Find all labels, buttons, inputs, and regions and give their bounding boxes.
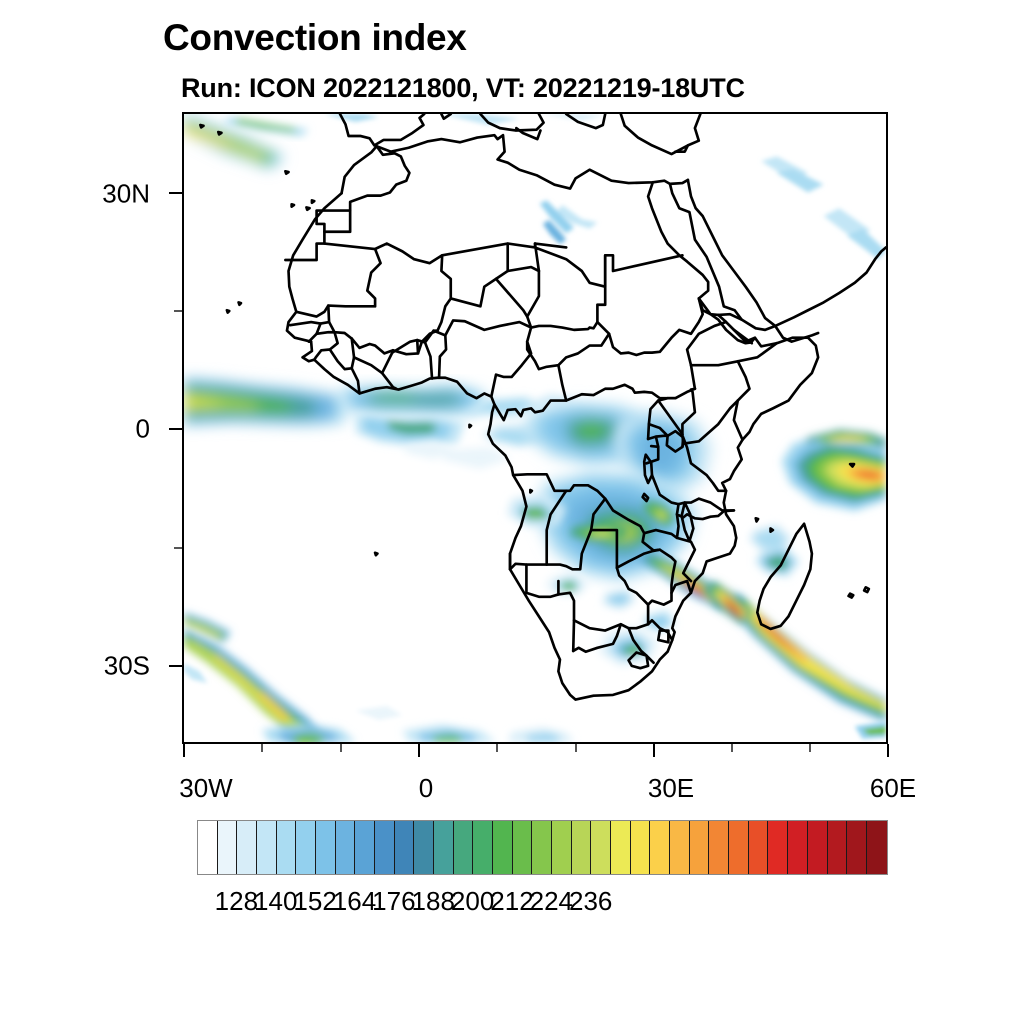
x-tick-20E [575, 744, 577, 752]
colorbar-cell[interactable] [454, 821, 474, 874]
colorbar[interactable] [197, 820, 888, 875]
colorbar-cell[interactable] [336, 821, 356, 874]
colorbar-cell[interactable] [611, 821, 631, 874]
y-tick-15N [174, 310, 182, 312]
colorbar-cell[interactable] [788, 821, 808, 874]
colorbar-cell[interactable] [532, 821, 552, 874]
colorbar-tick-label: 128 [215, 886, 258, 917]
colorbar-cell[interactable] [670, 821, 690, 874]
y-tick-15S [174, 547, 182, 549]
colorbar-tick-label: 152 [293, 886, 336, 917]
x-axis-label-30W: 30W [179, 773, 232, 804]
x-tick-20W [261, 744, 263, 752]
page-title: Convection index [163, 17, 467, 59]
colorbar-tick-label: 140 [254, 886, 297, 917]
colorbar-cell[interactable] [729, 821, 749, 874]
y-tick-30S [169, 665, 182, 667]
colorbar-cell[interactable] [768, 821, 788, 874]
y-tick-0 [169, 428, 182, 430]
colorbar-tick-label: 236 [569, 886, 612, 917]
x-tick-30E [653, 744, 655, 757]
colorbar-cell[interactable] [709, 821, 729, 874]
colorbar-cell[interactable] [296, 821, 316, 874]
colorbar-cell[interactable] [808, 821, 828, 874]
colorbar-cell[interactable] [749, 821, 769, 874]
x-tick-30W [183, 744, 185, 757]
colorbar-cell[interactable] [591, 821, 611, 874]
colorbar-tick-label: 224 [530, 886, 573, 917]
page-subtitle: Run: ICON 2022121800, VT: 20221219-18UTC [181, 73, 745, 104]
colorbar-cell[interactable] [572, 821, 592, 874]
colorbar-cell[interactable] [414, 821, 434, 874]
x-tick-10E [496, 744, 498, 752]
colorbar-cell[interactable] [847, 821, 867, 874]
colorbar-cell[interactable] [395, 821, 415, 874]
colorbar-tick-label: 164 [333, 886, 376, 917]
colorbar-tick-label: 200 [451, 886, 494, 917]
colorbar-cell[interactable] [828, 821, 848, 874]
colorbar-cell[interactable] [473, 821, 493, 874]
y-axis-label-0: 0 [40, 414, 150, 445]
colorbar-cell[interactable] [355, 821, 375, 874]
x-tick-50E [809, 744, 811, 752]
x-tick-10W [340, 744, 342, 752]
y-tick-30N [169, 192, 182, 194]
colorbar-cell[interactable] [513, 821, 533, 874]
x-axis-label-30E: 30E [648, 773, 694, 804]
colorbar-cell[interactable] [375, 821, 395, 874]
x-axis-label-0: 0 [419, 773, 433, 804]
colorbar-tick-label: 212 [490, 886, 533, 917]
map-canvas [184, 114, 886, 742]
colorbar-cell[interactable] [434, 821, 454, 874]
colorbar-cell[interactable] [237, 821, 257, 874]
colorbar-cell[interactable] [218, 821, 238, 874]
colorbar-cell[interactable] [631, 821, 651, 874]
colorbar-cell[interactable] [867, 821, 887, 874]
colorbar-cell[interactable] [277, 821, 297, 874]
colorbar-cell[interactable] [316, 821, 336, 874]
x-tick-60E [887, 744, 889, 757]
y-axis-label-30N: 30N [40, 179, 150, 210]
x-tick-40E [731, 744, 733, 752]
colorbar-cell[interactable] [552, 821, 572, 874]
colorbar-tick-label: 176 [372, 886, 415, 917]
colorbar-cell[interactable] [650, 821, 670, 874]
colorbar-cell[interactable] [690, 821, 710, 874]
x-axis-label-60E: 60E [870, 773, 916, 804]
colorbar-cell[interactable] [493, 821, 513, 874]
colorbar-tick-label: 188 [412, 886, 455, 917]
x-tick-0 [418, 744, 420, 757]
colorbar-cell[interactable] [257, 821, 277, 874]
colorbar-cell[interactable] [198, 821, 218, 874]
map-plot-area[interactable] [182, 112, 888, 744]
y-axis-label-30S: 30S [40, 651, 150, 682]
